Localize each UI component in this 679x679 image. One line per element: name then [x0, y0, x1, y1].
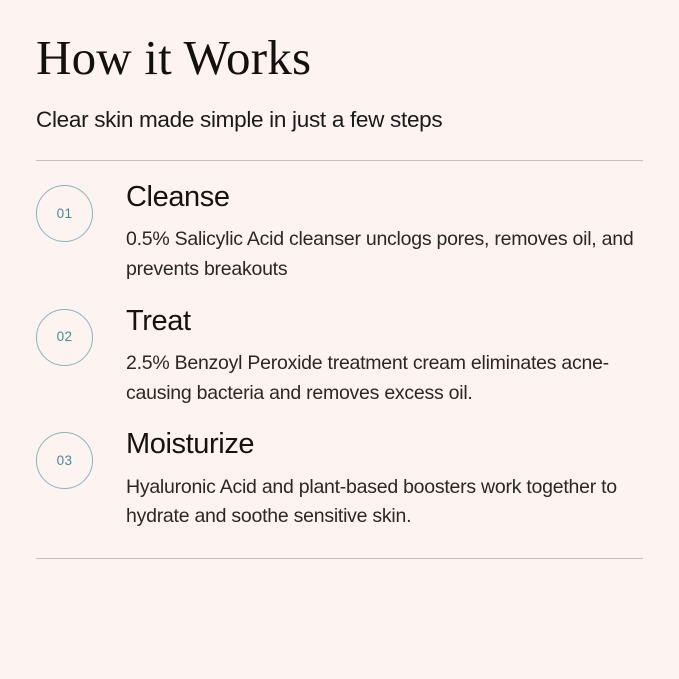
list-item: 03 Moisturize Hyaluronic Acid and plant-…	[36, 408, 643, 532]
step-number-badge: 03	[36, 432, 93, 489]
step-title: Treat	[126, 305, 643, 338]
page-subtitle: Clear skin made simple in just a few ste…	[36, 82, 643, 133]
step-number-label: 01	[57, 207, 73, 221]
page-title: How it Works	[36, 0, 643, 82]
how-it-works-panel: How it Works Clear skin made simple in j…	[0, 0, 679, 679]
step-content: Treat 2.5% Benzoyl Peroxide treatment cr…	[93, 305, 643, 409]
step-description: 2.5% Benzoyl Peroxide treatment cream el…	[126, 338, 643, 408]
step-description: 0.5% Salicylic Acid cleanser unclogs por…	[126, 214, 643, 284]
list-item: 02 Treat 2.5% Benzoyl Peroxide treatment…	[36, 285, 643, 409]
step-number-badge: 01	[36, 185, 93, 242]
step-content: Moisturize Hyaluronic Acid and plant-bas…	[93, 428, 643, 532]
step-content: Cleanse 0.5% Salicylic Acid cleanser unc…	[93, 181, 643, 285]
steps-list: 01 Cleanse 0.5% Salicylic Acid cleanser …	[36, 161, 643, 532]
step-description: Hyaluronic Acid and plant-based boosters…	[126, 462, 643, 532]
step-number-badge: 02	[36, 309, 93, 366]
divider-bottom	[36, 558, 643, 559]
list-item: 01 Cleanse 0.5% Salicylic Acid cleanser …	[36, 161, 643, 285]
step-number-label: 03	[57, 454, 73, 468]
step-title: Moisturize	[126, 428, 643, 461]
step-title: Cleanse	[126, 181, 643, 214]
step-number-label: 02	[57, 330, 73, 344]
